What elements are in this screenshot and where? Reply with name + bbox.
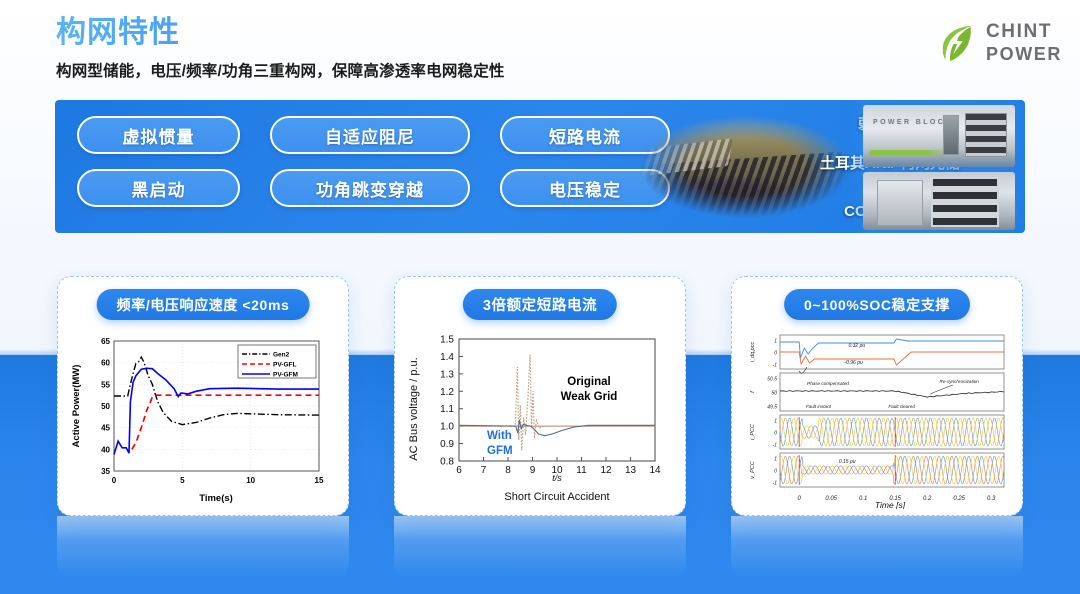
- svg-text:0.1: 0.1: [859, 496, 867, 502]
- svg-text:1: 1: [774, 339, 777, 345]
- svg-text:6: 6: [456, 465, 462, 476]
- svg-text:i_PCC: i_PCC: [750, 424, 756, 440]
- svg-text:1.0: 1.0: [440, 422, 454, 433]
- svg-text:With: With: [487, 430, 512, 442]
- svg-text:PV-GFM: PV-GFM: [273, 372, 298, 379]
- feature-pill-grid: 虚拟惯量 自适应阻尼 短路电流 黑启动 功角跳变穿越 电压稳定: [77, 116, 670, 207]
- power-block-container-photo: POWER BLOCK: [863, 105, 1015, 167]
- svg-text:60: 60: [101, 359, 110, 368]
- svg-text:1.2: 1.2: [440, 387, 454, 398]
- brand-wordmark: CHINT POWER: [986, 22, 1062, 63]
- svg-text:0.9: 0.9: [440, 439, 454, 450]
- svg-text:0.32 pu: 0.32 pu: [848, 343, 865, 349]
- card-title-2: 3倍额定短路电流: [463, 289, 617, 320]
- svg-text:35: 35: [101, 467, 110, 476]
- project-collage: 弱网+离网 土耳其Arar 构网光储 COD 2025/04 POWER BLO…: [615, 100, 1025, 233]
- svg-text:v_PCC: v_PCC: [750, 461, 756, 478]
- svg-text:8: 8: [505, 465, 511, 476]
- svg-text:0: 0: [112, 476, 117, 485]
- svg-text:-1: -1: [773, 363, 778, 369]
- svg-text:15: 15: [315, 476, 324, 485]
- svg-text:GFM: GFM: [487, 445, 513, 457]
- svg-text:-0.96 pu: -0.96 pu: [844, 360, 863, 366]
- svg-text:t/s: t/s: [552, 473, 562, 483]
- svg-text:14: 14: [649, 465, 661, 476]
- chart-1-svg: 35404550556065 051015 Active Power(MW) T…: [66, 329, 342, 509]
- chart-ac-bus-voltage: 0.80.91.01.11.21.31.41.5 67891011121314 …: [403, 329, 677, 507]
- svg-text:1.5: 1.5: [440, 335, 454, 346]
- container-battery-rack: [965, 113, 1007, 157]
- card-reflection-3: [731, 516, 1023, 578]
- svg-text:AC Bus voltage / p.u.: AC Bus voltage / p.u.: [408, 357, 420, 460]
- svg-text:50: 50: [101, 402, 110, 411]
- svg-text:0.2: 0.2: [923, 496, 932, 502]
- page-title: 构网特性: [56, 14, 505, 52]
- svg-text:9: 9: [530, 465, 536, 476]
- svg-text:13: 13: [625, 465, 637, 476]
- svg-text:50.5: 50.5: [767, 377, 777, 383]
- svg-text:Fault instant: Fault instant: [806, 404, 832, 409]
- svg-text:Active Power(MW): Active Power(MW): [71, 365, 82, 448]
- card-title-3: 0~100%SOC稳定支撑: [784, 289, 970, 320]
- svg-text:Gen2: Gen2: [273, 352, 290, 359]
- svg-text:1: 1: [774, 419, 777, 425]
- feature-pill-adaptive-damping[interactable]: 自适应阻尼: [270, 116, 470, 154]
- svg-text:10: 10: [246, 476, 255, 485]
- svg-text:Phase compensated: Phase compensated: [807, 381, 849, 386]
- slide-root: 构网特性 构网型储能，电压/频率/功角三重构网，保障高渗透率电网稳定性 CHIN…: [0, 0, 1080, 594]
- svg-text:55: 55: [101, 380, 110, 389]
- card-title-1: 频率/电压响应速度 <20ms: [97, 289, 310, 320]
- svg-text:0.25: 0.25: [953, 496, 965, 502]
- chart-soc-waveforms: 10-1i_dq,pcc0.32 pu-0.96 pu50.55049.5fPh…: [740, 329, 1014, 507]
- chart-3-svg: 10-1i_dq,pcc0.32 pu-0.96 pu50.55049.5fPh…: [740, 329, 1016, 509]
- leaf-bolt-icon: [939, 23, 977, 63]
- svg-text:0: 0: [774, 351, 777, 357]
- svg-text:Original: Original: [567, 376, 610, 388]
- container-door: [943, 115, 959, 155]
- svg-text:0: 0: [774, 469, 777, 475]
- svg-text:11: 11: [576, 465, 587, 476]
- svg-text:0.8: 0.8: [440, 457, 454, 468]
- svg-text:45: 45: [101, 424, 110, 433]
- svg-text:i_dq,pcc: i_dq,pcc: [750, 342, 756, 363]
- svg-text:Time [s]: Time [s]: [875, 500, 906, 509]
- card-soc-stability-support: 0~100%SOC稳定支撑 10-1i_dq,pcc0.32 pu-0.96 p…: [731, 276, 1023, 516]
- svg-text:0: 0: [774, 431, 777, 437]
- svg-text:5: 5: [180, 476, 185, 485]
- card-frequency-voltage-response: 频率/电压响应速度 <20ms 35404550556065 051015 Ac…: [57, 276, 349, 516]
- svg-text:1: 1: [774, 457, 777, 463]
- svg-text:1.4: 1.4: [440, 352, 454, 363]
- svg-text:0.15 pu: 0.15 pu: [839, 459, 856, 465]
- svg-text:0: 0: [798, 496, 802, 502]
- brand-logo: CHINT POWER: [939, 22, 1062, 63]
- card-short-circuit-current: 3倍额定短路电流 0.80.91.01.11.21.31.41.5 678910…: [394, 276, 686, 516]
- svg-text:7: 7: [481, 465, 487, 476]
- page-header: 构网特性 构网型储能，电压/频率/功角三重构网，保障高渗透率电网稳定性: [56, 14, 505, 81]
- svg-text:1.1: 1.1: [440, 404, 454, 415]
- svg-text:f: f: [750, 391, 756, 393]
- svg-text:PV-GFL: PV-GFL: [273, 362, 297, 369]
- svg-text:1.3: 1.3: [440, 369, 454, 380]
- svg-text:Short Circuit Accident: Short Circuit Accident: [504, 491, 609, 503]
- svg-text:-1: -1: [773, 443, 778, 449]
- power-block-label: POWER BLOCK: [873, 119, 953, 126]
- svg-text:0.05: 0.05: [825, 496, 837, 502]
- feature-pill-virtual-inertia[interactable]: 虚拟惯量: [77, 116, 240, 154]
- svg-text:Fault cleared: Fault cleared: [888, 404, 915, 409]
- svg-text:-1: -1: [773, 481, 778, 487]
- cabinet-interior-photo: [863, 172, 1015, 230]
- chart-active-power: 35404550556065 051015 Active Power(MW) T…: [66, 329, 340, 507]
- svg-text:Re-synchronization: Re-synchronization: [940, 379, 980, 384]
- card-reflection-1: [57, 516, 349, 578]
- svg-text:12: 12: [600, 465, 612, 476]
- card-reflection-2: [394, 516, 686, 578]
- svg-text:65: 65: [101, 337, 110, 346]
- svg-text:Time(s): Time(s): [199, 493, 233, 504]
- page-subtitle: 构网型储能，电压/频率/功角三重构网，保障高渗透率电网稳定性: [56, 59, 505, 81]
- cabinet-open-rack: [931, 177, 999, 227]
- svg-text:Weak Grid: Weak Grid: [561, 391, 618, 403]
- cabinet-left-unit: [877, 180, 923, 226]
- svg-text:49.5: 49.5: [767, 405, 777, 411]
- chart-2-svg: 0.80.91.01.11.21.31.41.5 67891011121314 …: [403, 329, 679, 509]
- brand-line-1: CHINT: [986, 22, 1062, 41]
- svg-text:40: 40: [101, 445, 110, 454]
- svg-text:0.3: 0.3: [987, 496, 996, 502]
- container-green-stripe: [868, 150, 950, 155]
- brand-line-2: POWER: [986, 45, 1062, 63]
- feature-pill-black-start[interactable]: 黑启动: [77, 169, 240, 207]
- feature-pill-power-angle-jump[interactable]: 功角跳变穿越: [270, 169, 470, 207]
- svg-text:50: 50: [771, 391, 777, 397]
- feature-banner: 虚拟惯量 自适应阻尼 短路电流 黑启动 功角跳变穿越 电压稳定 弱网+离网 土耳…: [55, 100, 1025, 233]
